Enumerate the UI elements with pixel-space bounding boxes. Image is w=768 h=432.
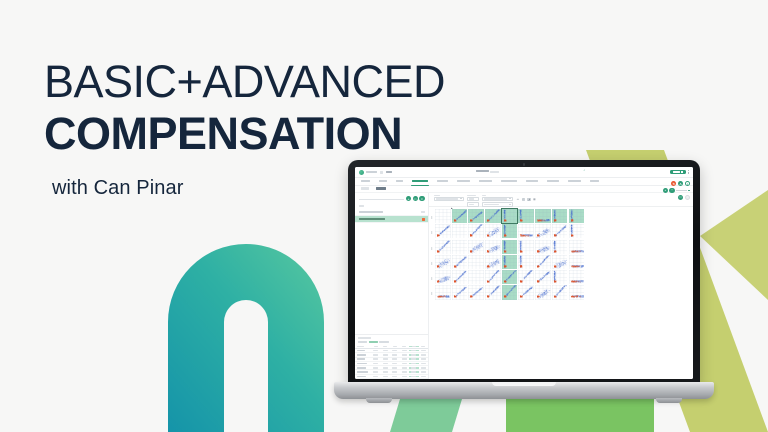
round-button-row-middle: + − — [663, 188, 690, 193]
apply-button[interactable] — [369, 341, 378, 344]
webcam-icon — [523, 163, 525, 165]
matrix-tool-icons: ➔ + ◢ ▦ — [516, 195, 536, 202]
feedback-button[interactable] — [670, 170, 685, 174]
pointer-icon[interactable]: ➔ — [516, 198, 519, 201]
matrix-cell[interactable] — [552, 285, 568, 299]
table-row[interactable] — [355, 375, 428, 379]
matrix-cell[interactable] — [535, 224, 551, 238]
matrix-cell[interactable] — [435, 224, 451, 238]
matrix-cell[interactable] — [435, 209, 451, 223]
info-button[interactable]: i — [685, 181, 690, 186]
tab-depth-validation[interactable] — [479, 180, 492, 183]
page-title-line2: COMPENSATION — [44, 108, 445, 160]
status-badge — [422, 218, 425, 221]
row-label: ▬▬▬ — [429, 209, 434, 224]
tab-cluster-analysis[interactable] — [568, 180, 581, 183]
matrix-cell[interactable] — [452, 255, 468, 269]
matrix-cell[interactable] — [552, 209, 568, 223]
matrix-cell[interactable] — [502, 285, 518, 299]
matrix-cell[interactable] — [468, 224, 484, 238]
table-grid — [355, 345, 428, 379]
fit-button[interactable]: □ — [678, 195, 683, 200]
saved-check-icon: ✓ — [583, 169, 585, 172]
sidebar-file-list — [355, 209, 428, 223]
zoom-out-button[interactable]: − — [669, 188, 674, 193]
document-title-group — [476, 170, 499, 174]
matrix-cell[interactable] — [502, 209, 518, 223]
matrix-cell[interactable] — [435, 240, 451, 254]
reset-button[interactable] — [358, 341, 367, 344]
document-subtitle — [490, 171, 499, 173]
matrix-cell[interactable] — [569, 224, 585, 238]
matrix-cell[interactable] — [518, 224, 534, 238]
topbar-actions — [670, 170, 689, 174]
matrix-cell[interactable] — [502, 255, 518, 269]
matrix-cell[interactable] — [552, 240, 568, 254]
spillover-input-group — [467, 195, 479, 207]
zoom-in-button[interactable]: + — [663, 188, 668, 193]
matrix-cell[interactable] — [518, 255, 534, 269]
document-title — [476, 170, 489, 172]
tab-transformation[interactable] — [457, 180, 470, 183]
matrix-cell[interactable] — [535, 270, 551, 284]
lock-button[interactable]: ○ — [685, 195, 690, 200]
scatter-matrix: ▴ ▬▬▬ ▬▬▬ ▬▬▬ ▬▬▬ ▬▬▬ ▬▬▬ — [429, 207, 693, 379]
spillover-label — [467, 195, 476, 196]
matrix-cell[interactable] — [485, 255, 501, 269]
opacity-slider[interactable] — [676, 190, 690, 192]
matrix-cell-grid — [435, 209, 584, 300]
matrix-cell[interactable] — [552, 255, 568, 269]
base-notch — [492, 382, 556, 386]
kebab-icon[interactable] — [688, 170, 689, 174]
headline-block: BASIC+ADVANCED COMPENSATION with Can Pin… — [44, 56, 445, 200]
app-body: + □ × — [355, 193, 693, 379]
matrix-cell[interactable] — [535, 255, 551, 269]
sidebar: + □ × — [355, 193, 429, 379]
export-button[interactable] — [379, 341, 389, 344]
laptop-mockup: ✓ — [334, 160, 714, 432]
page-subtitle: with Can Pinar — [52, 177, 445, 200]
matrix-cell[interactable] — [468, 285, 484, 299]
matrix-cell[interactable] — [535, 209, 551, 223]
autocomp-button[interactable]: A — [678, 181, 683, 186]
matrix-cell[interactable] — [485, 240, 501, 254]
matrix-cell[interactable] — [552, 224, 568, 238]
row-label: ▬▬▬ — [429, 240, 434, 255]
matrix-cell[interactable] — [502, 270, 518, 284]
matrix-cell[interactable] — [468, 270, 484, 284]
scale-select-label — [482, 195, 486, 196]
matrix-cell[interactable] — [569, 255, 585, 269]
grid-icon[interactable]: ▦ — [533, 198, 536, 201]
row-label: ▬▬▬ — [429, 285, 434, 300]
matrix-cell[interactable] — [569, 209, 585, 223]
matrix-cell[interactable] — [468, 255, 484, 269]
crosshair-icon[interactable]: + — [522, 198, 525, 201]
scale-select-group — [482, 195, 513, 207]
feedback-label — [673, 171, 680, 173]
matrix-cell[interactable] — [452, 240, 468, 254]
chevron-down-icon — [460, 198, 462, 199]
matrix-cell[interactable] — [535, 285, 551, 299]
matrix-cell[interactable] — [502, 224, 518, 238]
feedback-icon — [681, 171, 683, 173]
matrix-cell[interactable] — [518, 240, 534, 254]
spillover-matrix-table — [355, 334, 428, 379]
matrix-cell[interactable] — [452, 285, 468, 299]
matrix-cell[interactable] — [435, 285, 451, 299]
tab-statistics[interactable] — [590, 180, 599, 183]
matrix-cell[interactable] — [569, 240, 585, 254]
matrix-cell[interactable] — [518, 270, 534, 284]
matrix-cell[interactable] — [502, 240, 518, 254]
round-button-row-bottom: □ ○ — [678, 195, 690, 200]
matrix-cell[interactable] — [569, 270, 585, 284]
teal-arch — [168, 244, 324, 432]
matrix-cell[interactable] — [569, 285, 585, 299]
list-item[interactable] — [355, 216, 428, 223]
row-label: ▬▬▬ — [429, 270, 434, 285]
matrix-cell[interactable] — [485, 224, 501, 238]
row-label: ▬▬▬ — [429, 255, 434, 270]
matrix-row-labels: ▬▬▬ ▬▬▬ ▬▬▬ ▬▬▬ ▬▬▬ ▬▬▬ — [429, 209, 434, 301]
matrix-cell[interactable] — [518, 285, 534, 299]
matrix-cell[interactable] — [452, 270, 468, 284]
spillover-input[interactable] — [467, 197, 479, 201]
chevron-down-icon — [509, 198, 511, 199]
matrix-cell[interactable] — [435, 255, 451, 269]
row-label: ▬▬▬ — [429, 224, 434, 239]
tab-normalization[interactable] — [526, 180, 538, 183]
matrix-cell[interactable] — [468, 209, 484, 223]
laptop-foot-right — [656, 398, 682, 403]
matrix-cell[interactable] — [435, 270, 451, 284]
chevron-down-icon — [509, 204, 511, 205]
reset-button[interactable]: ↻ — [671, 181, 676, 186]
matrix-toolbar: ➔ + ◢ ▦ ↻ A i — [429, 193, 693, 207]
scale-select[interactable] — [482, 197, 513, 201]
matrix-cell[interactable] — [518, 209, 534, 223]
page-title-line1: BASIC+ADVANCED — [44, 56, 445, 108]
matrix-cell[interactable] — [535, 240, 551, 254]
tab-population-definition[interactable] — [501, 180, 517, 183]
round-button-row-top: ↻ A i — [671, 181, 690, 186]
matrix-cell[interactable] — [485, 270, 501, 284]
tab-manual-gating[interactable] — [547, 180, 559, 183]
laptop-foot-left — [366, 398, 392, 403]
gate-icon[interactable]: ◢ — [527, 198, 530, 201]
list-item[interactable] — [355, 209, 428, 216]
matrix-cell[interactable] — [452, 209, 468, 223]
laptop-base — [334, 382, 714, 399]
matrix-cell[interactable] — [468, 240, 484, 254]
matrix-round-buttons: ↻ A i + − — [663, 181, 690, 200]
matrix-cell[interactable] — [452, 224, 468, 238]
matrix-cell[interactable] — [485, 209, 501, 223]
matrix-cell[interactable] — [552, 270, 568, 284]
matrix-cell[interactable] — [485, 285, 501, 299]
matrix-panel: ➔ + ◢ ▦ ↻ A i — [429, 193, 693, 379]
